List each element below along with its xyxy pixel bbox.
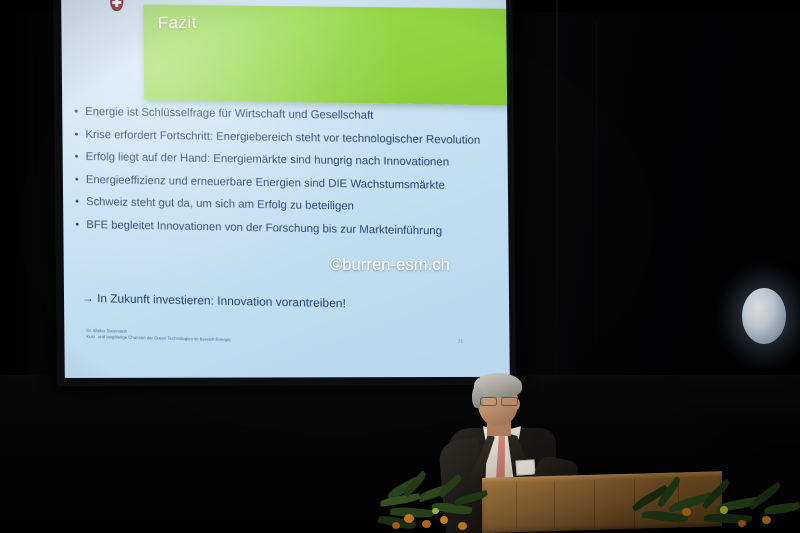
- slide-bullet-list: • Energie ist Schlüsselfrage für Wirtsch…: [74, 106, 482, 249]
- slide-conclusion: → In Zukunft investieren: Innovation vor…: [82, 291, 478, 313]
- bullet-text: Schweiz steht gut da, um sich am Erfolg …: [86, 196, 481, 216]
- presentation-slide: Fazit • Energie ist Schlüsselfrage für W…: [61, 0, 510, 378]
- list-item: • Krise erfordert Fortschritt: Energiebe…: [74, 128, 480, 148]
- list-item: • Energieeffizienz und erneuerbare Energ…: [75, 174, 481, 194]
- bullet-marker-icon: •: [75, 174, 86, 188]
- list-item: • Schweiz steht gut da, um sich am Erfol…: [75, 196, 481, 217]
- flower-arrangement: [612, 486, 800, 533]
- bullet-text: Energie ist Schlüsselfrage für Wirtschaf…: [85, 106, 480, 125]
- swiss-coat-of-arms-icon: [110, 0, 123, 11]
- bullet-marker-icon: •: [75, 151, 86, 165]
- list-item: • Erfolg liegt auf der Hand: Energiemärk…: [75, 151, 481, 171]
- slide-title: Fazit: [158, 13, 197, 34]
- slide-title-banner: Fazit: [143, 5, 509, 106]
- list-item: • Energie ist Schlüsselfrage für Wirtsch…: [74, 106, 480, 125]
- conference-hall-scene: Fazit • Energie ist Schlüsselfrage für W…: [0, 0, 800, 533]
- wall-spotlight: [742, 288, 786, 344]
- bullet-text: BFE begleitet Innovationen von der Forsc…: [86, 219, 481, 240]
- bullet-text: Krise erfordert Fortschritt: Energiebere…: [85, 129, 480, 148]
- bullet-marker-icon: •: [74, 128, 85, 142]
- bullet-marker-icon: •: [75, 196, 86, 210]
- bullet-marker-icon: •: [75, 219, 86, 233]
- bullet-marker-icon: •: [74, 106, 85, 120]
- bullet-text: Erfolg liegt auf der Hand: Energiemärkte…: [86, 151, 481, 171]
- image-watermark: ©burren-esm.ch: [330, 256, 450, 275]
- projection-screen: Fazit • Energie ist Schlüsselfrage für W…: [53, 0, 516, 386]
- list-item: • BFE begleitet Innovationen von der For…: [75, 219, 481, 240]
- flower-arrangement: [378, 478, 508, 533]
- speaker-name-badge: [516, 459, 536, 475]
- slide-page-number: 21: [458, 338, 463, 343]
- speaker-glasses: [480, 397, 518, 404]
- bullet-text: Energieeffizienz und erneuerbare Energie…: [86, 174, 481, 194]
- slide-footer: Dr. Walter Steinmann Kurz- und langfrist…: [86, 328, 421, 348]
